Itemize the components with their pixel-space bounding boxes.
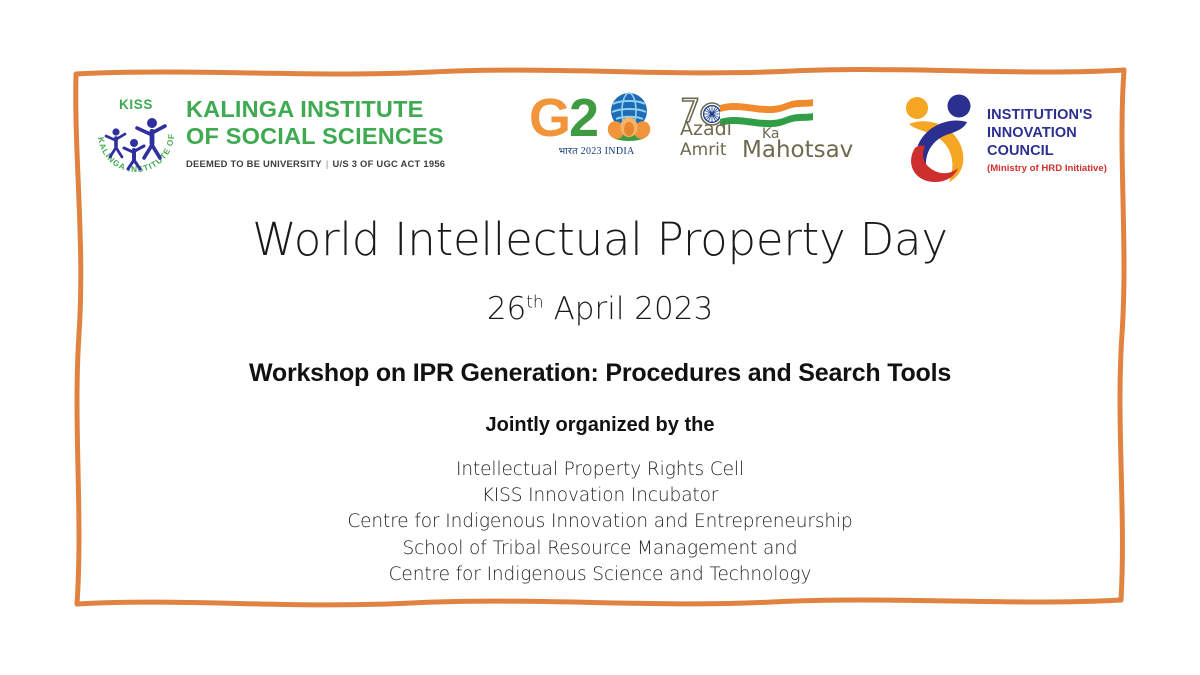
logo-azadi-ka-amrit-mahotsav: 7 <box>680 92 815 168</box>
g20-caption: भारत 2023 INDIA <box>534 144 659 157</box>
kiss-tagline-separator: | <box>322 158 333 169</box>
event-date-number: 26 <box>487 291 526 327</box>
logo-strip: KALINGA INSTITUTE OF SOCIAL SCIENCES KIS… <box>90 88 1110 196</box>
event-date-rest: April 2023 <box>544 291 713 327</box>
azadi-word-azadi: Azadi <box>680 118 732 140</box>
kiss-wordmark-line1: KALINGA INSTITUTE <box>186 96 444 123</box>
g20-emblem-icon: G 2 <box>528 88 663 146</box>
kiss-tagline-left: DEEMED TO BE UNIVERSITY <box>186 158 322 169</box>
list-item: KISS Innovation Incubator <box>90 483 1110 509</box>
logo-kiss: KALINGA INSTITUTE OF SOCIAL SCIENCES KIS… <box>90 90 445 188</box>
poster-slide: KALINGA INSTITUTE OF SOCIAL SCIENCES KIS… <box>0 0 1200 675</box>
logo-institutions-innovation-council: INSTITUTION'S INNOVATION COUNCIL (Minist… <box>895 90 1110 188</box>
page-title: World Intellectual Property Day <box>90 215 1110 265</box>
iic-subtitle: (Ministry of HRD Initiative) <box>987 163 1112 174</box>
svg-text:KISS: KISS <box>119 97 153 112</box>
organizer-list: Intellectual Property Rights Cell KISS I… <box>90 457 1110 589</box>
iic-wordmark-line1: INSTITUTION'S <box>987 107 1112 125</box>
iic-wordmark-line3: COUNCIL <box>987 143 1112 161</box>
azadi-word-amrit: Amrit <box>680 140 727 160</box>
iic-wordmark-line2: INNOVATION <box>987 125 1112 143</box>
kiss-emblem-icon: KALINGA INSTITUTE OF SOCIAL SCIENCES KIS… <box>90 90 182 182</box>
kiss-wordmark-line2: OF SOCIAL SCIENCES <box>186 123 444 150</box>
event-date-ordinal: th <box>526 292 543 312</box>
svg-text:2: 2 <box>569 88 599 146</box>
workshop-title: Workshop on IPR Generation: Procedures a… <box>90 359 1110 388</box>
azadi-wordmark: Azadi Ka Amrit Mahotsav <box>680 118 815 168</box>
iic-emblem-icon <box>895 90 983 186</box>
g20-caption-country: INDIA <box>605 146 635 157</box>
svg-text:G: G <box>529 88 571 146</box>
logo-g20: G 2 <box>528 88 663 168</box>
list-item: Centre for Indigenous Innovation and Ent… <box>90 509 1110 535</box>
organized-by-heading: Jointly organized by the <box>90 414 1110 437</box>
kiss-tagline-right: U/S 3 OF UGC ACT 1956 <box>333 158 446 169</box>
g20-caption-devanagari: भारत <box>559 146 578 157</box>
list-item: Centre for Indigenous Science and Techno… <box>90 562 1110 588</box>
list-item: School of Tribal Resource Management and <box>90 536 1110 562</box>
event-date: 26th April 2023 <box>90 291 1110 327</box>
list-item: Intellectual Property Rights Cell <box>90 457 1110 483</box>
kiss-tagline: DEEMED TO BE UNIVERSITY|U/S 3 OF UGC ACT… <box>186 158 444 169</box>
g20-caption-year: 2023 <box>581 146 602 157</box>
azadi-word-mahotsav: Mahotsav <box>742 137 853 163</box>
poster-content: World Intellectual Property Day 26th Apr… <box>90 215 1110 589</box>
